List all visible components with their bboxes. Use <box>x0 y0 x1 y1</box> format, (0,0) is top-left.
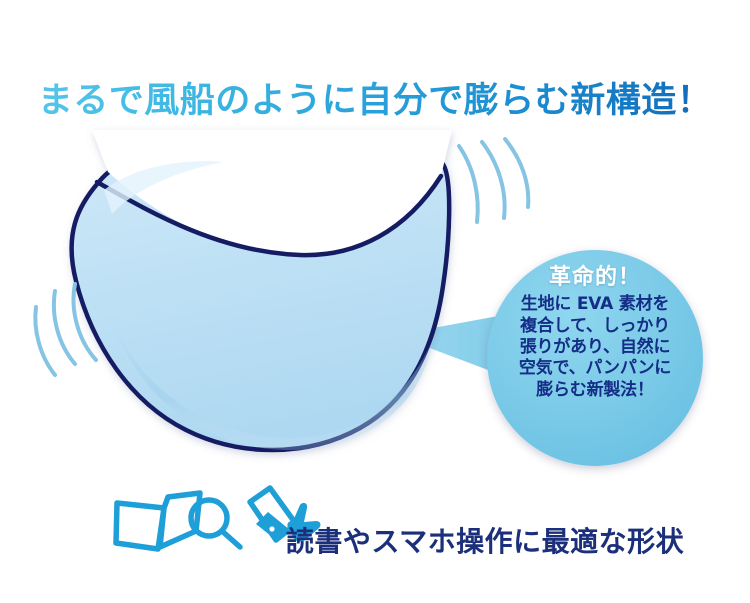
bottom-icon-group <box>66 527 276 528</box>
bubble-body-line: 空気で、パンパンに <box>519 358 671 379</box>
bubble-body: 生地に EVA 素材を 複合して、しっかり 張りがあり、自然に 空気で、パンパン… <box>519 294 671 401</box>
bubble-content: 革命的！ 生地に EVA 素材を 複合して、しっかり 張りがあり、自然に 空気で… <box>487 250 703 466</box>
bubble-title: 革命的！ <box>549 266 641 290</box>
poster-root: まるで風船のように自分で膨らむ新構造！ <box>0 0 750 603</box>
feature-callout-bubble: 革命的！ 生地に EVA 素材を 複合して、しっかり 張りがあり、自然に 空気で… <box>487 250 703 466</box>
bottom-caption: 読書やスマホ操作に最適な形状 <box>286 494 684 560</box>
bubble-body-line: 複合して、しっかり <box>519 316 671 337</box>
bubble-body-line: 生地に EVA 素材を <box>519 294 671 315</box>
crescent-pillow <box>72 130 452 450</box>
motion-lines-right <box>459 139 528 222</box>
bubble-body-line: 張りがあり、自然に <box>519 337 671 358</box>
bottom-feature-row: 読書やスマホ操作に最適な形状 <box>0 494 750 560</box>
bubble-body-line: 膨らむ新製法！ <box>519 380 671 401</box>
